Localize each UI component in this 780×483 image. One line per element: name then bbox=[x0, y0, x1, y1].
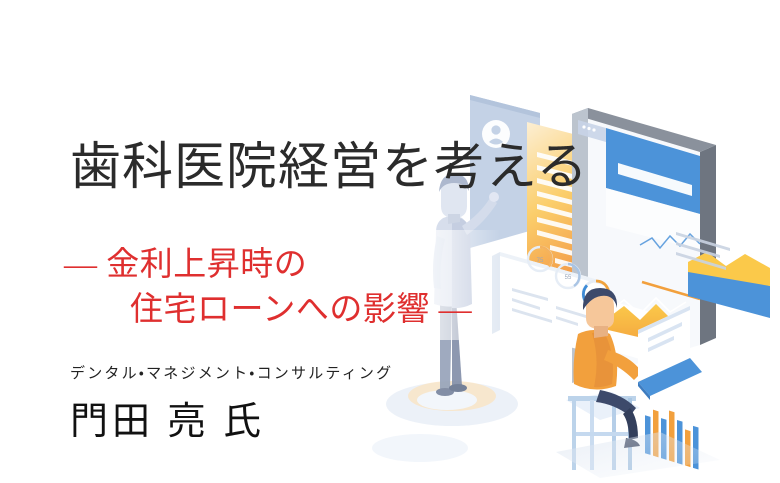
page-title: 歯科医院経営を考える bbox=[70, 143, 588, 194]
slide-canvas: 75 55 65 bbox=[0, 0, 780, 483]
subtitle: — 金利上昇時の 住宅ローンへの影響 — bbox=[64, 243, 472, 332]
subtitle-line-1: — 金利上昇時の bbox=[64, 247, 307, 283]
speaker-name: 門田 亮 氏 bbox=[70, 390, 265, 445]
subtitle-line-2: 住宅ローンへの影響 — bbox=[64, 288, 472, 333]
speaker-organization: デンタル・マネジメント・コンサルティング bbox=[70, 362, 393, 383]
text-layer: 歯科医院経営を考える — 金利上昇時の 住宅ローンへの影響 — デンタル・マネジ… bbox=[0, 0, 780, 483]
